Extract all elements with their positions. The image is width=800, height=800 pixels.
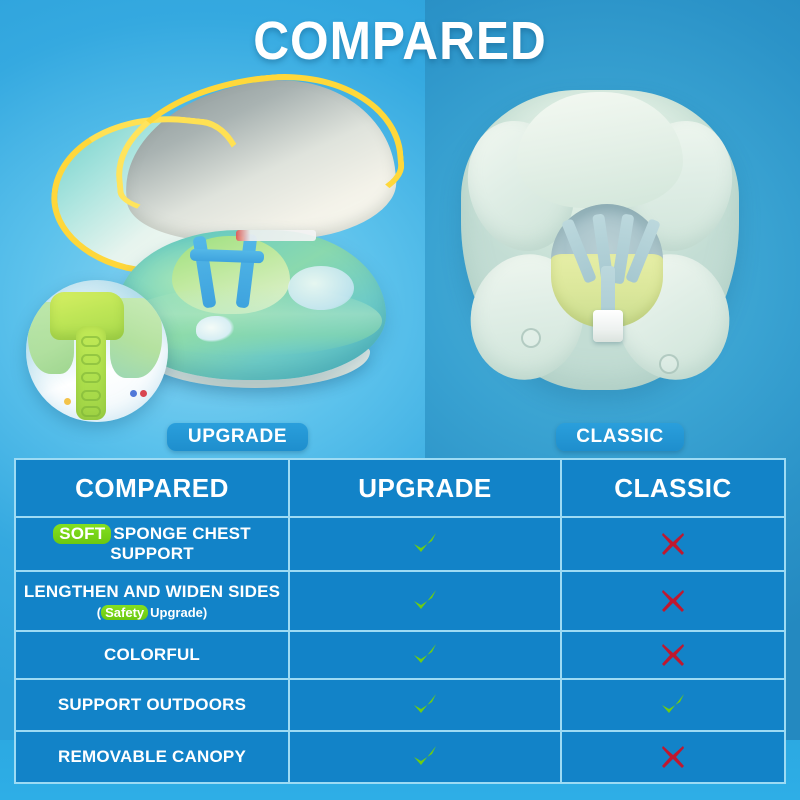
feature-cell: SOFTSPONGE CHEST SUPPORT <box>16 518 290 570</box>
classic-buckle-icon <box>593 310 623 342</box>
product-image-upgrade <box>30 80 410 410</box>
detail-inset-circle <box>26 280 168 422</box>
cross-icon <box>658 640 688 670</box>
table-row: LENGTHEN AND WIDEN SIDES (SafetyUpgrade) <box>16 572 784 632</box>
table-header-upgrade: UPGRADE <box>290 460 562 516</box>
upgrade-mark-cell <box>290 680 562 730</box>
product-label-upgrade: UPGRADE <box>167 423 308 451</box>
feature-cell: LENGTHEN AND WIDEN SIDES (SafetyUpgrade) <box>16 572 290 630</box>
check-icon <box>410 529 440 559</box>
classic-mark-cell <box>562 732 784 782</box>
classic-valve-right-icon <box>659 354 679 374</box>
classic-mark-cell <box>562 518 784 570</box>
dolphin-graphic-icon <box>196 316 234 342</box>
table-header-row: COMPARED UPGRADE CLASSIC <box>16 460 784 518</box>
check-icon <box>410 640 440 670</box>
float-side-badge <box>288 266 354 310</box>
upgrade-mark-cell <box>290 732 562 782</box>
check-icon <box>410 690 440 720</box>
check-icon <box>410 742 440 772</box>
inset-dot-red-icon <box>140 390 147 397</box>
classic-mark-cell <box>562 632 784 678</box>
feature-cell: SUPPORT OUTDOORS <box>16 680 290 730</box>
classic-mark-cell <box>562 680 784 730</box>
float-logo-tag <box>236 230 316 241</box>
cross-icon <box>658 529 688 559</box>
table-row: COLORFUL <box>16 632 784 680</box>
feature-label: SUPPORT OUTDOORS <box>58 695 246 715</box>
table-row: SOFTSPONGE CHEST SUPPORT <box>16 518 784 572</box>
feature-sublabel: (SafetyUpgrade) <box>24 605 280 620</box>
table-row: REMOVABLE CANOPY <box>16 732 784 782</box>
feature-badge: SOFT <box>53 524 111 544</box>
cross-icon <box>658 742 688 772</box>
inset-dot-blue-icon <box>130 390 137 397</box>
sub-suffix: Upgrade) <box>150 605 207 620</box>
product-image-classic <box>455 86 745 406</box>
upgrade-mark-cell <box>290 518 562 570</box>
check-icon <box>410 586 440 616</box>
upgrade-mark-cell <box>290 632 562 678</box>
inset-dot-yellow-icon <box>64 398 71 405</box>
page-title: COMPARED <box>32 14 768 68</box>
feature-cell: COLORFUL <box>16 632 290 678</box>
feature-cell: REMOVABLE CANOPY <box>16 732 290 782</box>
upgrade-mark-cell <box>290 572 562 630</box>
safety-badge: Safety <box>101 605 148 620</box>
check-icon <box>658 690 688 720</box>
feature-label: LENGTHEN AND WIDEN SIDES <box>24 582 280 602</box>
cross-icon <box>658 586 688 616</box>
feature-label: REMOVABLE CANOPY <box>58 747 246 767</box>
table-row: SUPPORT OUTDOORS <box>16 680 784 732</box>
inset-support-strip <box>76 326 106 420</box>
float-strap-cross <box>190 249 264 264</box>
feature-label: COLORFUL <box>104 645 200 665</box>
table-header-classic: CLASSIC <box>562 460 784 516</box>
feature-label: SPONGE CHEST SUPPORT <box>110 524 251 563</box>
table-header-feature: COMPARED <box>16 460 290 516</box>
classic-valve-left-icon <box>521 328 541 348</box>
product-label-classic: CLASSIC <box>556 423 684 451</box>
comparison-table: COMPARED UPGRADE CLASSIC SOFTSPONGE CHES… <box>14 458 786 784</box>
classic-mark-cell <box>562 572 784 630</box>
